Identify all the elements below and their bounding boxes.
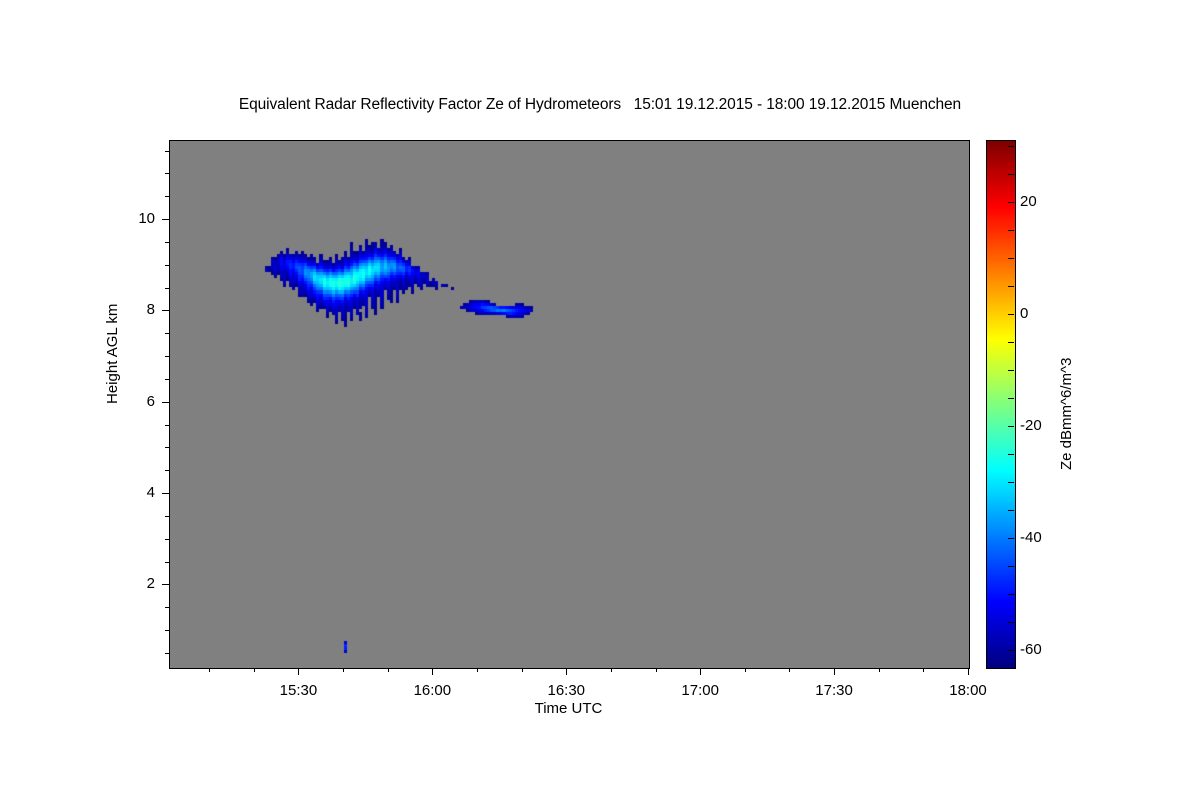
colorbar-tick (1008, 230, 1014, 231)
colorbar-gradient (987, 141, 1015, 668)
colorbar (986, 140, 1016, 669)
y-tick-minor (165, 425, 169, 426)
y-tick-minor (165, 630, 169, 631)
colorbar-tick (1008, 538, 1014, 539)
y-tick-minor (165, 562, 169, 563)
x-tick-major (700, 668, 701, 675)
y-tick-minor (165, 607, 169, 608)
y-tick-label: 10 (0, 211, 167, 226)
x-tick-label: 16:00 (414, 683, 452, 698)
y-tick-label: 8 (0, 302, 167, 317)
colorbar-tick (1008, 594, 1014, 595)
colorbar-tick (1008, 202, 1014, 203)
x-tick-label: 16:30 (547, 683, 585, 698)
reflectivity-heatmap (170, 141, 969, 668)
y-tick-label: 6 (0, 394, 167, 409)
x-tick-minor (388, 668, 389, 672)
colorbar-tick (1008, 650, 1014, 651)
x-tick-major (968, 668, 969, 675)
colorbar-tick-label: -60 (1020, 642, 1042, 657)
x-tick-minor (879, 668, 880, 672)
y-tick-minor (165, 173, 169, 174)
x-tick-label: 15:30 (280, 683, 318, 698)
y-tick-label: 2 (0, 576, 167, 591)
colorbar-tick-label: 0 (1020, 306, 1028, 321)
y-tick-minor (165, 470, 169, 471)
x-tick-minor (343, 668, 344, 672)
x-tick-minor (745, 668, 746, 672)
y-axis-title: Height AGL km (104, 304, 121, 404)
colorbar-tick-label: -40 (1020, 530, 1042, 545)
x-tick-minor (656, 668, 657, 672)
colorbar-tick (1008, 146, 1014, 147)
colorbar-tick (1008, 454, 1014, 455)
colorbar-tick (1008, 510, 1014, 511)
x-tick-minor (477, 668, 478, 672)
x-tick-minor (522, 668, 523, 672)
x-tick-major (834, 668, 835, 675)
y-tick-minor (165, 447, 169, 448)
colorbar-tick (1008, 398, 1014, 399)
x-tick-minor (611, 668, 612, 672)
y-tick-minor (165, 333, 169, 334)
colorbar-tick (1008, 342, 1014, 343)
y-tick-minor (165, 356, 169, 357)
colorbar-tick (1008, 426, 1014, 427)
colorbar-tick (1008, 258, 1014, 259)
x-axis-title: Time UTC (169, 700, 968, 717)
x-tick-major (566, 668, 567, 675)
y-tick-minor (165, 265, 169, 266)
y-tick-minor (165, 653, 169, 654)
x-tick-label: 17:00 (681, 683, 719, 698)
x-tick-major (298, 668, 299, 675)
x-tick-label: 18:00 (949, 683, 987, 698)
x-tick-minor (209, 668, 210, 672)
colorbar-tick (1008, 566, 1014, 567)
y-tick-minor (165, 379, 169, 380)
y-tick-minor (165, 516, 169, 517)
colorbar-tick (1008, 286, 1014, 287)
y-tick-minor (165, 196, 169, 197)
page-title: Equivalent Radar Reflectivity Factor Ze … (0, 96, 1200, 114)
y-tick-minor (165, 288, 169, 289)
colorbar-title: Ze dBmm^6/m^3 (1058, 358, 1075, 470)
colorbar-tick (1008, 370, 1014, 371)
y-tick-minor (165, 539, 169, 540)
y-tick-label: 4 (0, 485, 167, 500)
colorbar-tick-label: -20 (1020, 418, 1042, 433)
colorbar-tick (1008, 622, 1014, 623)
x-tick-minor (923, 668, 924, 672)
plot-area (169, 140, 970, 669)
colorbar-tick (1008, 174, 1014, 175)
y-tick-minor (165, 242, 169, 243)
colorbar-tick-label: 20 (1020, 194, 1037, 209)
x-tick-major (432, 668, 433, 675)
x-tick-minor (254, 668, 255, 672)
x-tick-minor (789, 668, 790, 672)
colorbar-tick (1008, 314, 1014, 315)
colorbar-tick (1008, 482, 1014, 483)
y-tick-minor (165, 151, 169, 152)
x-tick-label: 17:30 (815, 683, 853, 698)
